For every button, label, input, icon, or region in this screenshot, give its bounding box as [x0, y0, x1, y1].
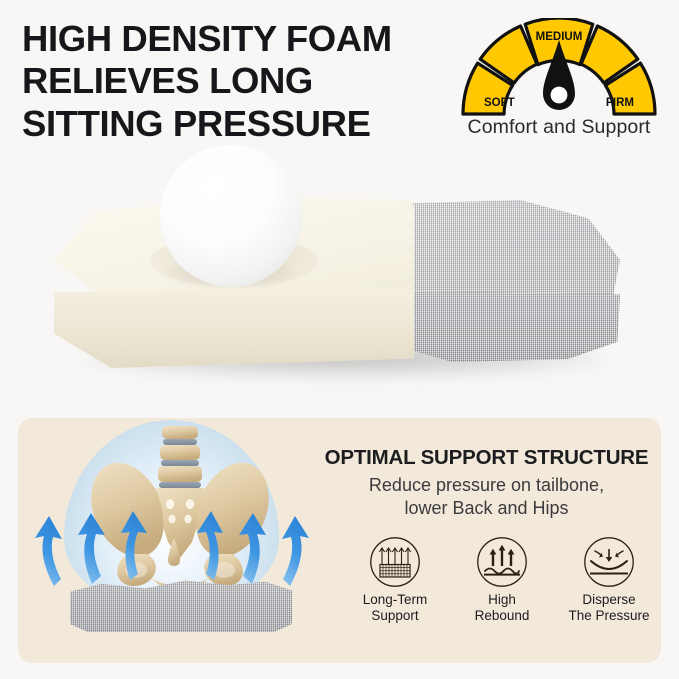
pelvis-illustration: [22, 418, 322, 663]
demo-ball: [160, 145, 302, 287]
page-title: HIGH DENSITY FOAM RELIEVES LONG SITTING …: [22, 18, 452, 145]
feature-list: Long-Term Support: [346, 536, 658, 624]
gauge-dial-icon: SOFT MEDIUM FIRM: [456, 18, 662, 118]
feature-long-term-support: Long-Term Support: [346, 536, 444, 624]
feature-label: High Rebound: [475, 592, 530, 624]
cushion-foam-side: [54, 290, 414, 368]
gauge-label-firm: FIRM: [606, 97, 634, 109]
support-structure-panel: OPTIMAL SUPPORT STRUCTURE Reduce pressur…: [18, 418, 661, 663]
grid-arrows-up-icon: [369, 536, 421, 588]
gauge-label-medium: MEDIUM: [536, 31, 583, 43]
panel-subheading: Reduce pressure on tailbone, lower Back …: [314, 474, 659, 519]
cushion-cross-section: [70, 576, 292, 632]
feature-high-rebound: High Rebound: [453, 536, 551, 624]
gauge-label-soft: SOFT: [484, 97, 515, 109]
gauge-hub-icon: [551, 87, 568, 104]
feature-label: Disperse The Pressure: [568, 592, 649, 624]
gauge-caption: Comfort and Support: [440, 116, 678, 139]
product-photo: [0, 140, 679, 405]
firmness-gauge: SOFT MEDIUM FIRM Comfort and Support: [440, 18, 678, 143]
spine-group: [156, 426, 204, 566]
panel-heading: OPTIMAL SUPPORT STRUCTURE: [314, 446, 659, 470]
feature-label: Long-Term Support: [363, 592, 428, 624]
feature-disperse-pressure: Disperse The Pressure: [560, 536, 658, 624]
arrows-up-wave-icon: [476, 536, 528, 588]
infographic-page: HIGH DENSITY FOAM RELIEVES LONG SITTING …: [0, 0, 679, 679]
converging-arrows-icon: [583, 536, 635, 588]
